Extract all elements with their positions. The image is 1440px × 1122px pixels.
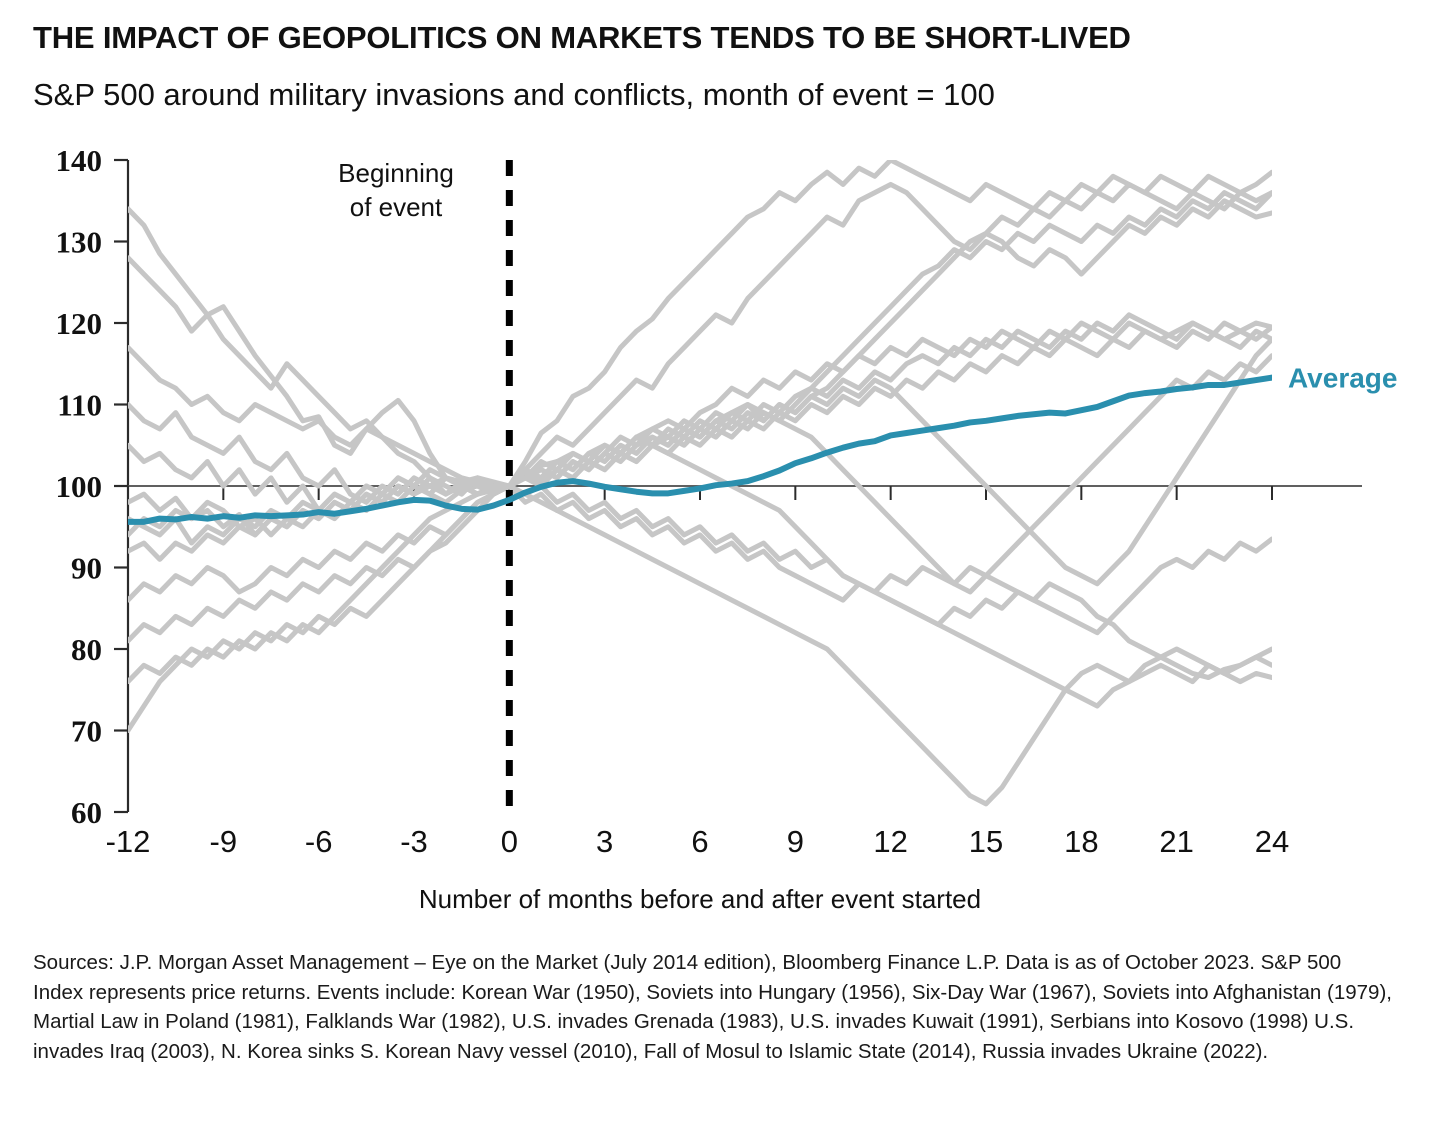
chart-container: 60708090100110120130140 -12-9-6-30369121… [0,140,1440,940]
x-tick-label: -3 [400,824,428,859]
event-series-group [128,160,1272,804]
x-axis-title: Number of months before and after event … [419,884,981,914]
x-tick-label: 9 [787,824,804,859]
event-line-series [128,176,1272,559]
x-tick-label: 6 [691,824,708,859]
chart-page: THE IMPACT OF GEOPOLITICS ON MARKETS TEN… [0,0,1440,1122]
y-tick-label: 80 [71,632,102,667]
y-tick-label: 60 [71,795,102,830]
y-tick-label: 120 [56,306,103,341]
y-tick-label: 70 [71,714,102,749]
event-annotation-line1: Beginning [338,158,454,188]
y-tick-label: 90 [71,551,102,586]
y-tick-label: 140 [56,143,103,178]
y-tick-label: 100 [56,469,103,504]
x-tick-label: 18 [1064,824,1098,859]
x-tick-label: 3 [596,824,613,859]
legend-average-label: Average [1288,363,1397,394]
y-tick-label: 130 [56,225,103,260]
event-line-series [128,486,1272,706]
average-series-group [128,378,1272,522]
x-tick-labels: -12-9-6-303691215182124 [106,824,1290,859]
x-tick-label: 24 [1255,824,1289,859]
page-subtitle: S&P 500 around military invasions and co… [33,78,1413,112]
x-tick-label: -9 [210,824,238,859]
x-tick-label: -6 [305,824,333,859]
axis-group: 60708090100110120130140 -12-9-6-30369121… [56,143,1363,859]
page-title: THE IMPACT OF GEOPOLITICS ON MARKETS TEN… [33,22,1413,55]
footnote-sources: Sources: J.P. Morgan Asset Management – … [33,948,1393,1067]
sp500-geopolitics-line-chart: 60708090100110120130140 -12-9-6-30369121… [0,140,1440,940]
x-tick-label: 0 [501,824,518,859]
x-tick-label: 15 [969,824,1003,859]
average-line [128,378,1272,522]
x-tick-label: -12 [106,824,151,859]
event-annotation-line2: of event [350,192,443,222]
y-tick-marks [114,160,128,812]
y-tick-labels: 60708090100110120130140 [56,143,103,830]
x-tick-label: 12 [873,824,907,859]
y-tick-label: 110 [57,388,102,423]
x-tick-label: 21 [1159,824,1193,859]
